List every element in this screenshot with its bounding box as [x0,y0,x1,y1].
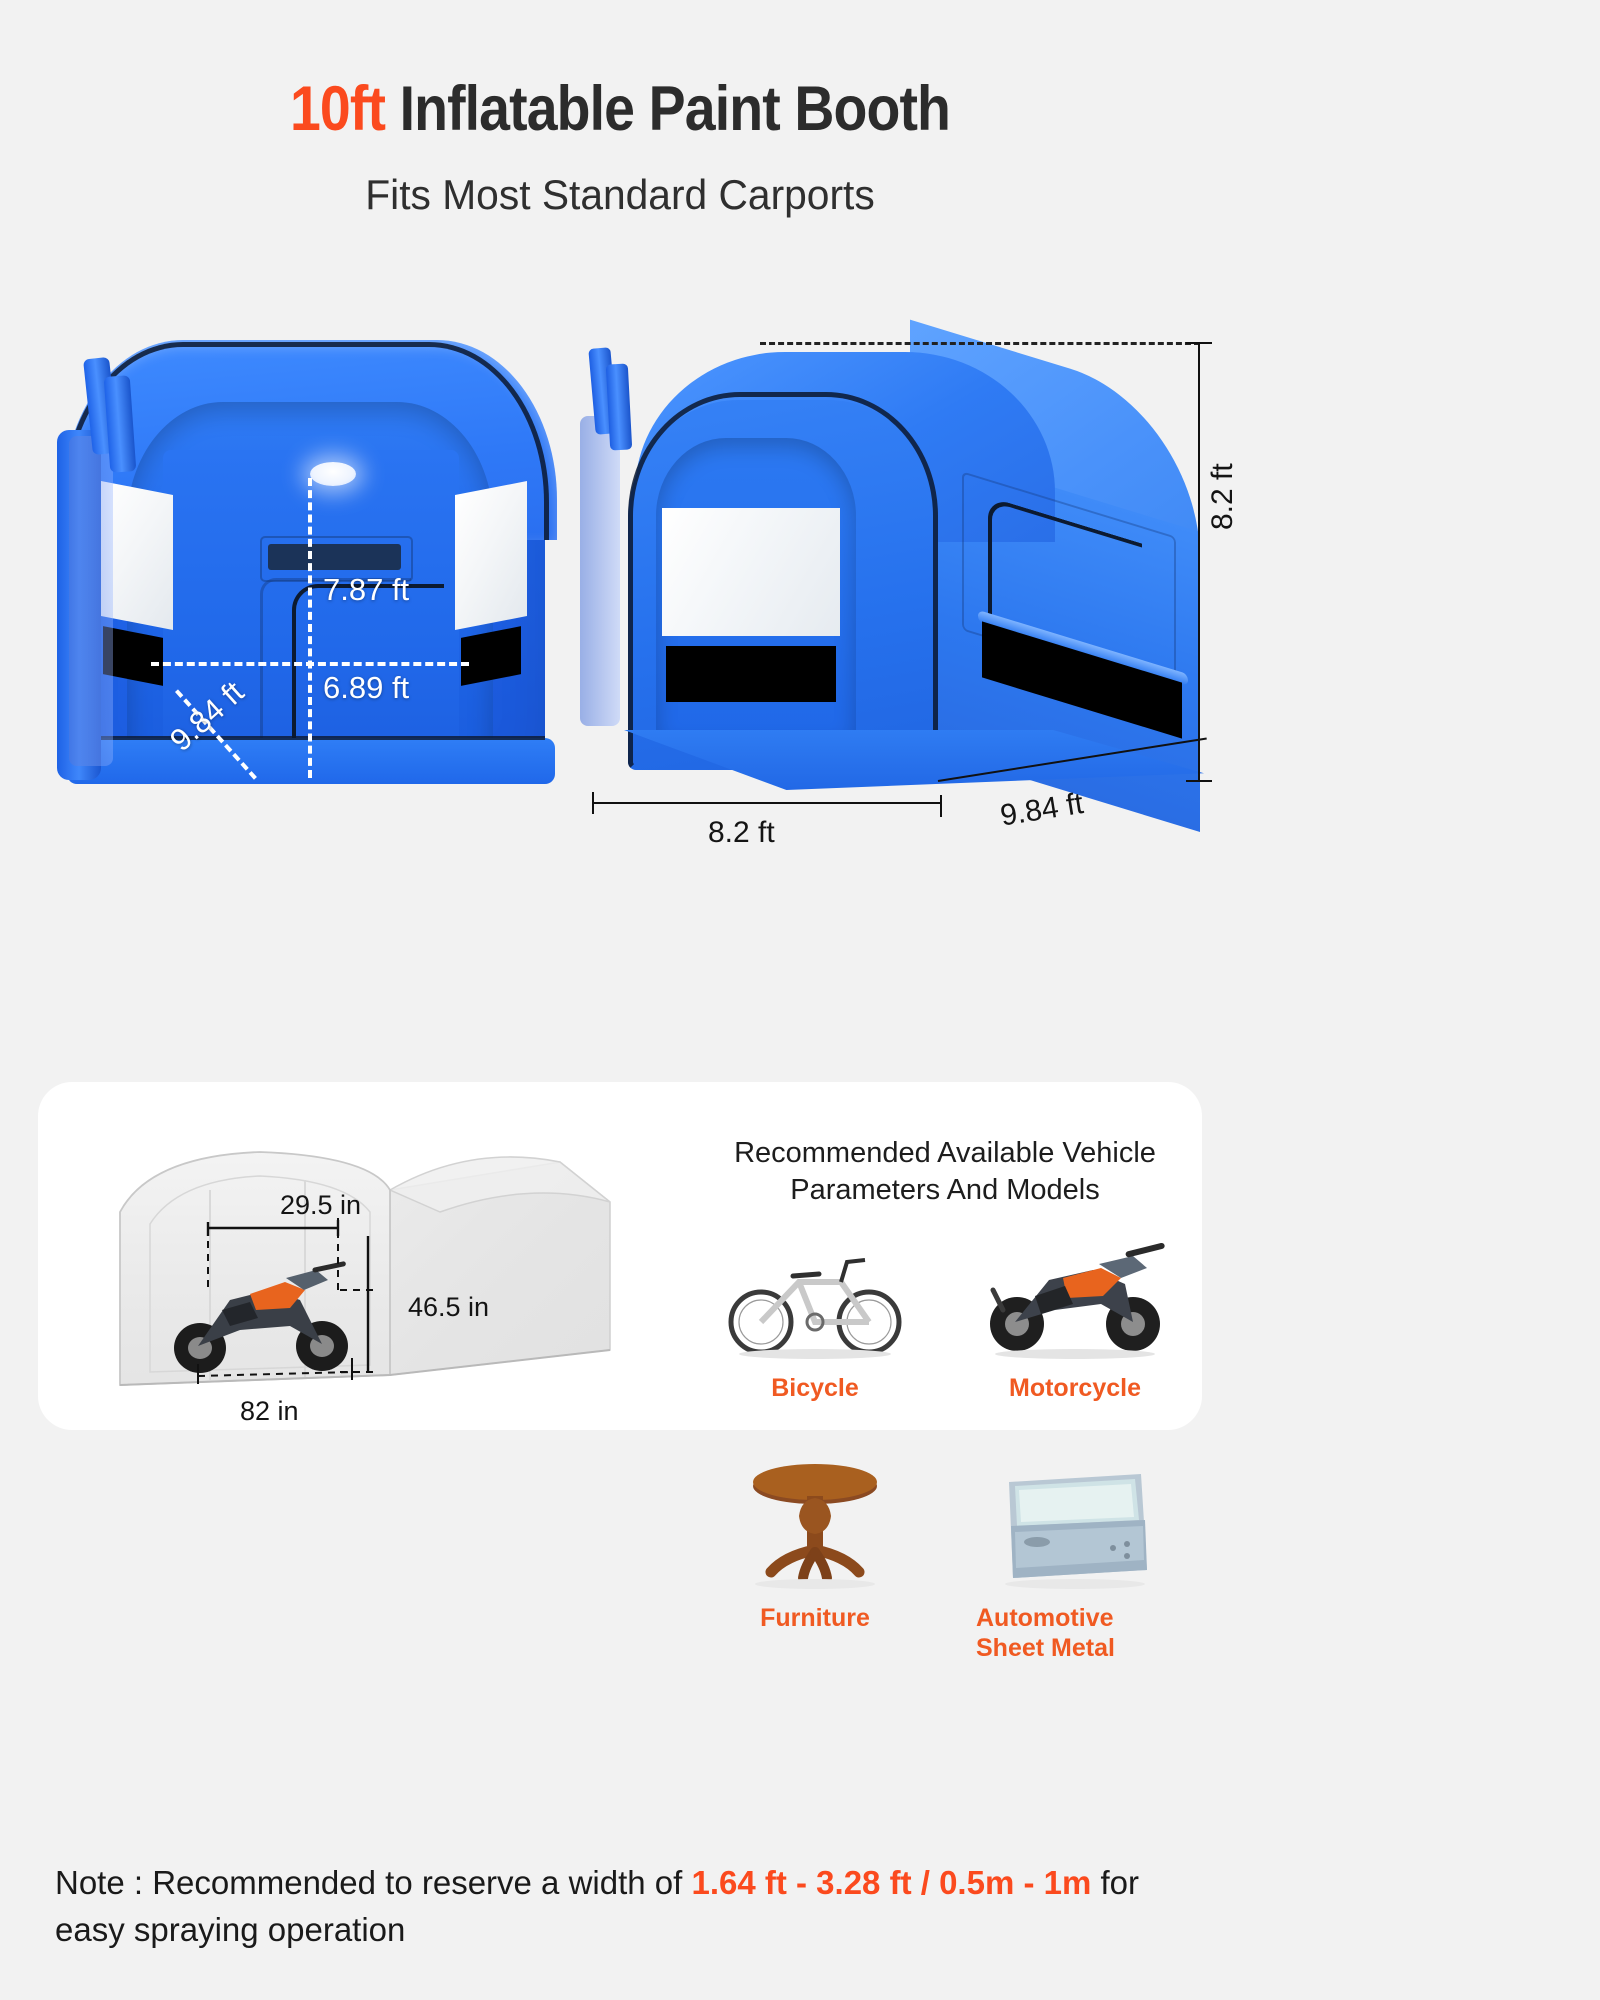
bicycle-icon [715,1240,915,1360]
note-highlight: 1.64 ft - 3.28 ft / 0.5m - 1m [691,1864,1091,1901]
persp-width-label: 8.2 ft [708,816,775,850]
persp-width-dimline [592,802,942,804]
booth-window-right [455,481,527,630]
note-prefix: Note : Recommended to reserve a width of [55,1864,691,1901]
footer-note: Note : Recommended to reserve a width of… [55,1860,1195,1954]
furniture-table-icon [715,1460,915,1590]
page-header: 10ft Inflatable Paint Booth Fits Most St… [0,0,1240,219]
category-bicycle[interactable]: Bicycle [700,1240,930,1403]
category-automotive-label-line1: Automotive [976,1603,1190,1633]
front-height-label: 7.87 ft [323,572,409,608]
category-automotive-label-line2: Sheet Metal [976,1633,1190,1663]
transparent-booth-illustration: 29.5 in 46.5 in 82 in [90,1150,650,1390]
perspective-view-booth: 8.2 ft 8.2 ft 9.84 ft [580,330,1220,850]
persp-depth-label: 9.84 ft [998,787,1086,834]
title-highlight: 10ft [290,74,385,144]
category-furniture[interactable]: Furniture [700,1460,930,1633]
front-inner-height-guide [151,662,469,666]
booth-perspective-air-tube-b [606,363,632,450]
persp-width-tick-right [940,795,942,817]
front-inner-height-label: 6.89 ft [323,670,409,706]
persp-top-guide [760,342,1200,345]
persp-height-label: 8.2 ft [1206,463,1240,530]
booth-front-seam [628,392,938,770]
booth-left-glass-tube [69,436,113,766]
category-furniture-label: Furniture [700,1603,930,1633]
motorcycle-icon [975,1240,1175,1360]
page-subtitle: Fits Most Standard Carports [19,171,1222,219]
title-rest: Inflatable Paint Booth [400,74,950,144]
panel-heading: Recommended Available Vehicle Parameters… [690,1135,1200,1209]
ghost-side-dim-label: 46.5 in [408,1292,489,1323]
booth-perspective-glass-tube [580,416,620,726]
car-door-icon [975,1460,1175,1590]
panel-heading-line1: Recommended Available Vehicle [690,1135,1200,1172]
category-bicycle-label: Bicycle [700,1373,930,1403]
ghost-booth-svg [90,1150,650,1400]
ghost-bottom-dim-label: 82 in [240,1396,299,1427]
category-automotive-label: Automotive Sheet Metal [960,1603,1190,1663]
ghost-top-dim-label: 29.5 in [280,1190,361,1221]
persp-width-tick-left [592,792,594,814]
booth-ceiling-light-icon [310,462,356,486]
category-automotive-sheet-metal[interactable]: Automotive Sheet Metal [960,1460,1190,1663]
category-motorcycle-label: Motorcycle [960,1373,1190,1403]
front-view-booth: 7.87 ft 6.89 ft 9.84 ft [55,340,575,800]
persp-height-tick-bottom [1186,780,1212,782]
page-title: 10ft Inflatable Paint Booth [74,78,1165,141]
persp-height-dimline [1198,342,1200,782]
category-motorcycle[interactable]: Motorcycle [960,1240,1190,1403]
booth-vent [268,544,401,570]
front-height-guide [308,478,312,778]
panel-heading-line2: Parameters And Models [690,1172,1200,1209]
persp-height-tick-top [1186,342,1212,344]
product-views: 7.87 ft 6.89 ft 9.84 ft 8.2 ft 8.2 ft [0,320,1240,1080]
